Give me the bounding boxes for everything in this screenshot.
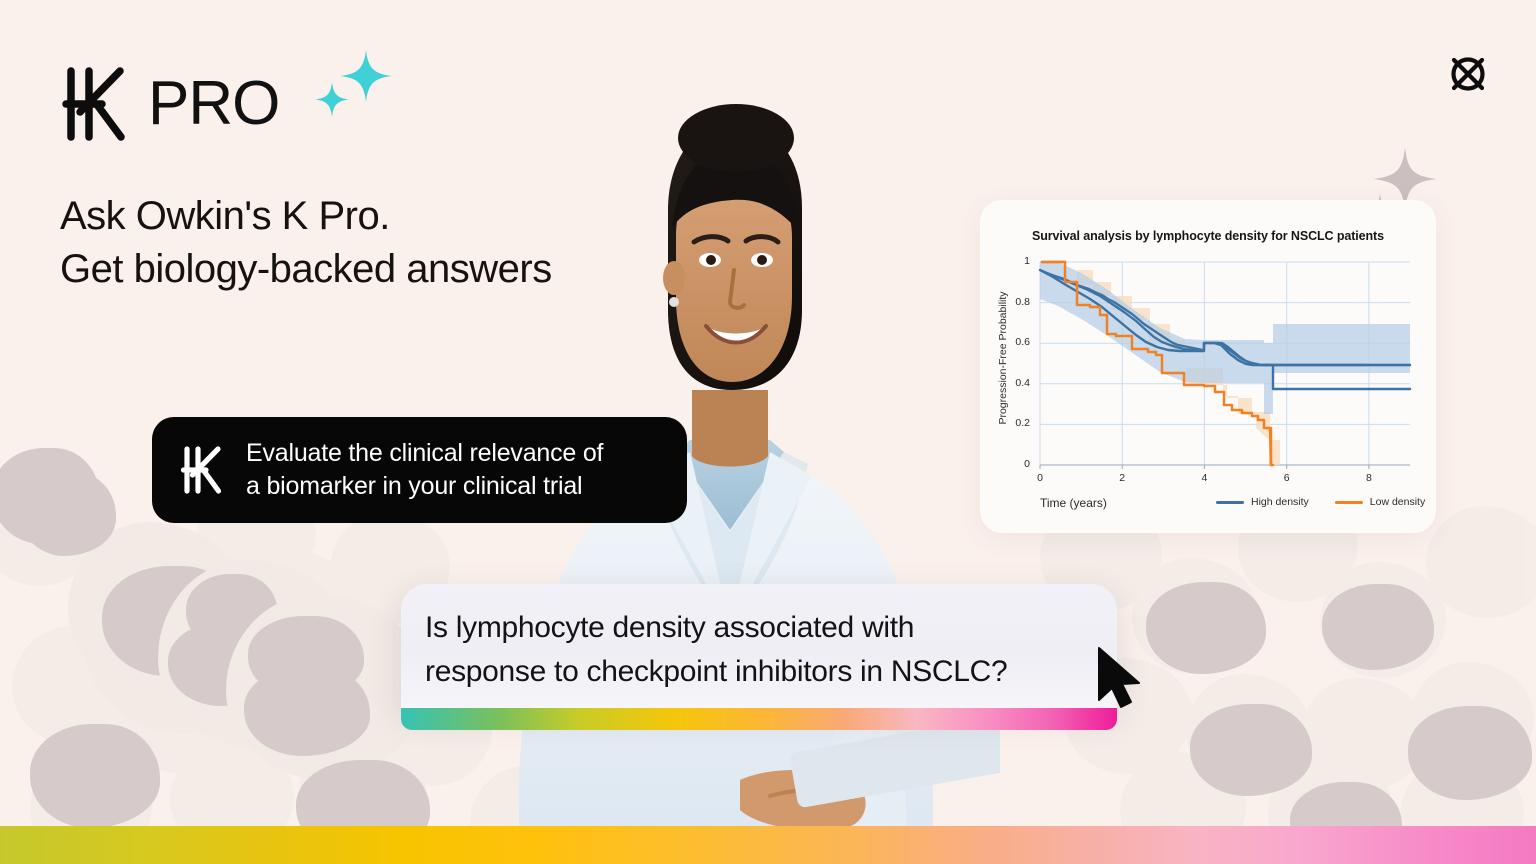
legend-swatch-high-density bbox=[1216, 501, 1244, 504]
bottom-gradient-bar bbox=[0, 826, 1536, 864]
x-tick-8: 8 bbox=[1359, 472, 1379, 484]
legend-item-high-density: High density bbox=[1216, 496, 1309, 508]
x-tick-4: 4 bbox=[1194, 472, 1214, 484]
chart-legend: High density Low density bbox=[1216, 496, 1425, 508]
headline-line-2: Get biology-backed answers bbox=[60, 243, 700, 296]
prompt-suggestion-pill[interactable]: Evaluate the clinical relevance of a bio… bbox=[152, 417, 687, 523]
y-tick-0: 0 bbox=[1004, 458, 1030, 470]
question-card[interactable]: Is lymphocyte density associated with re… bbox=[401, 584, 1117, 708]
logo-wordmark: PRO bbox=[148, 73, 279, 135]
question-card-text: Is lymphocyte density associated with re… bbox=[425, 606, 1105, 693]
legend-swatch-low-density bbox=[1335, 501, 1363, 504]
sparkle-icon bbox=[308, 48, 398, 128]
page-title: Ask Owkin's K Pro. Get biology-backed an… bbox=[60, 190, 700, 296]
k-pro-logo[interactable]: PRO bbox=[58, 62, 279, 146]
y-axis-label: Progression-Free Probability bbox=[997, 273, 1009, 443]
x-tick-0: 0 bbox=[1030, 472, 1050, 484]
headline-line-1: Ask Owkin's K Pro. bbox=[60, 190, 700, 243]
k-logo-icon bbox=[58, 62, 130, 146]
y-tick-1: 1 bbox=[1004, 255, 1030, 267]
mouse-pointer-icon bbox=[1094, 645, 1144, 711]
ad-banner: PRO Ask Owkin's K Pro. Get biology-backe… bbox=[0, 0, 1536, 864]
question-card-gradient-bar bbox=[401, 708, 1117, 730]
question-line-1: Is lymphocyte density associated with bbox=[425, 606, 1105, 650]
question-line-2: response to checkpoint inhibitors in NSC… bbox=[425, 650, 1105, 694]
x-tick-6: 6 bbox=[1277, 472, 1297, 484]
k-logo-icon bbox=[178, 443, 224, 497]
owkin-circle-x-icon bbox=[1444, 50, 1492, 98]
x-tick-2: 2 bbox=[1112, 472, 1132, 484]
legend-label-high-density: High density bbox=[1251, 496, 1309, 508]
x-axis-label: Time (years) bbox=[1040, 496, 1107, 510]
prompt-pill-line-2: a biomarker in your clinical trial bbox=[246, 470, 603, 503]
prompt-pill-text: Evaluate the clinical relevance of a bio… bbox=[246, 437, 603, 504]
survival-chart-card: Survival analysis by lymphocyte density … bbox=[980, 200, 1436, 533]
legend-item-low-density: Low density bbox=[1335, 496, 1425, 508]
legend-label-low-density: Low density bbox=[1370, 496, 1425, 508]
prompt-pill-line-1: Evaluate the clinical relevance of bbox=[246, 437, 603, 470]
